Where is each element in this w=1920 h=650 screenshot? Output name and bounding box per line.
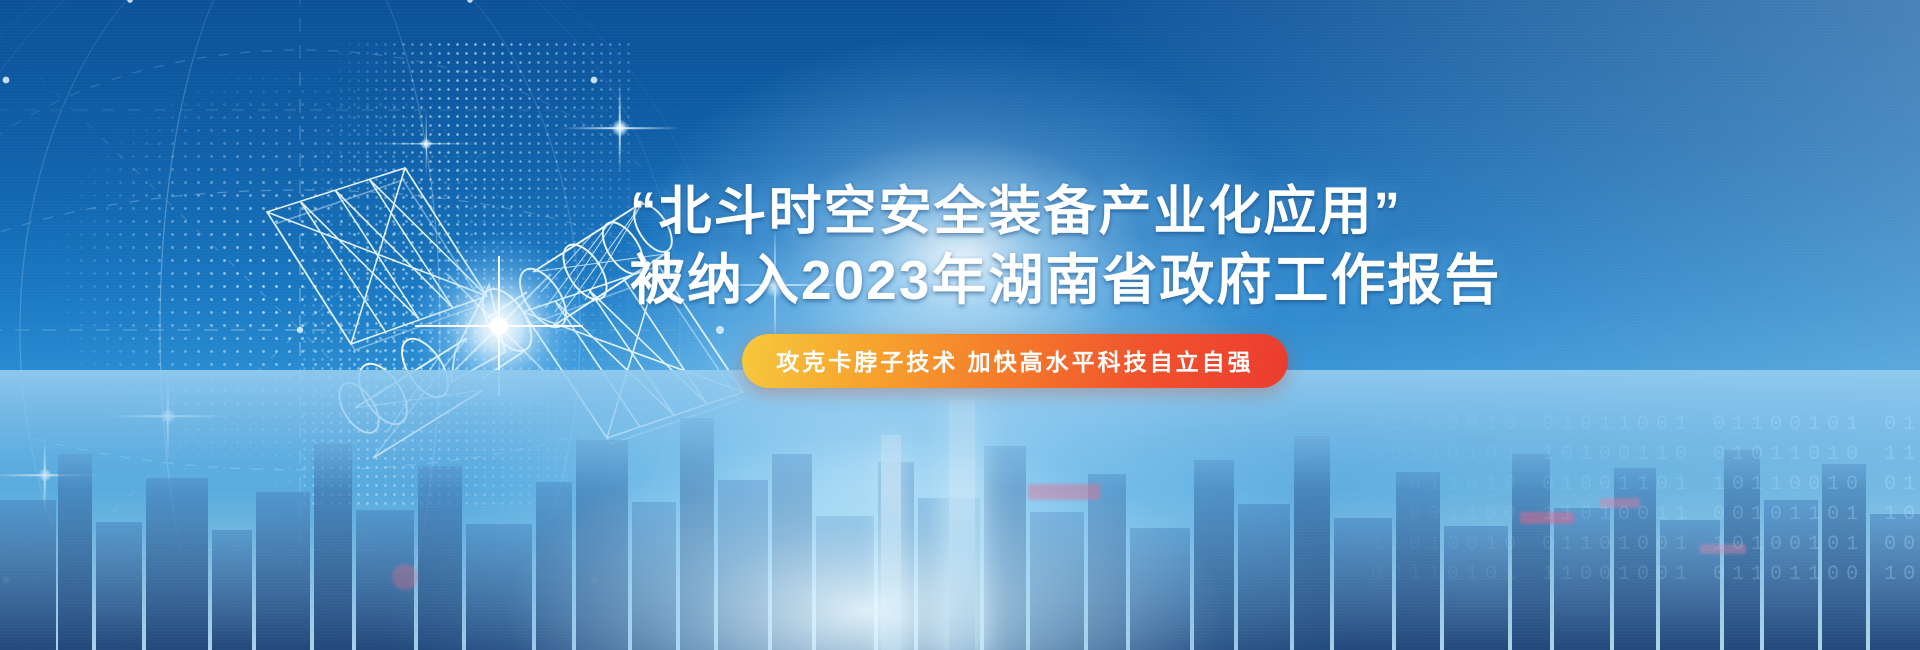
banner-content: “北斗时空安全装备产业化应用” 被纳入2023年湖南省政府工作报告 攻克卡脖子技… xyxy=(630,180,1400,388)
binary-data-icon: 01001011 01100010 01011001 01100101 0100… xyxy=(1200,410,1920,650)
hero-banner: 01001011 01100010 01011001 01100101 0100… xyxy=(0,0,1920,650)
subtitle-pill[interactable]: 攻克卡脖子技术 加快高水平科技自立自强 xyxy=(742,334,1287,388)
headline-line-2: 被纳入2023年湖南省政府工作报告 xyxy=(630,246,1400,314)
headline-line-1: “北斗时空安全装备产业化应用” xyxy=(630,180,1400,244)
city-skyline-icon: 01001011 01100010 01011001 01100101 0100… xyxy=(0,370,1920,650)
